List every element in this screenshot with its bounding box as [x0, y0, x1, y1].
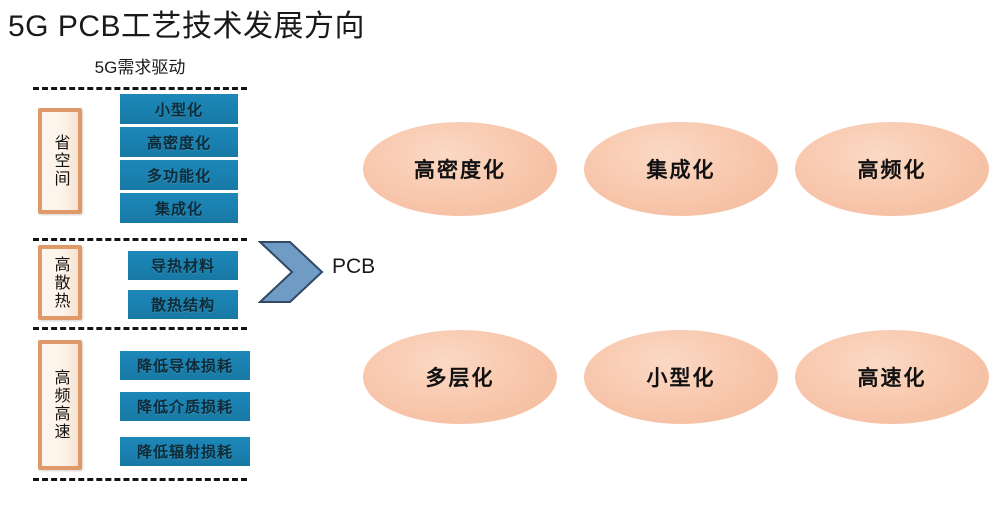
group-label-text: 省空间 — [51, 134, 70, 188]
group-label-heat-dissipation[interactable]: 高散热 — [38, 245, 82, 320]
chevron-right-icon — [258, 240, 324, 304]
requirement-label: 小型化 — [155, 99, 203, 120]
outcome-ellipse-integration[interactable]: 集成化 — [584, 122, 778, 216]
outcome-label: 高密度化 — [414, 154, 506, 184]
requirement-box-integration[interactable]: 集成化 — [120, 193, 238, 223]
outcome-ellipse-high-frequency[interactable]: 高频化 — [795, 122, 989, 216]
requirement-label: 多功能化 — [147, 165, 211, 186]
group-label-text: 高散热 — [51, 256, 70, 310]
outcome-label: 小型化 — [647, 362, 716, 392]
outcome-ellipse-multilayer[interactable]: 多层化 — [363, 330, 557, 424]
outcome-ellipse-high-speed[interactable]: 高速化 — [795, 330, 989, 424]
requirement-label: 高密度化 — [147, 132, 211, 153]
requirement-label: 集成化 — [155, 198, 203, 219]
requirement-box-high-density[interactable]: 高密度化 — [120, 127, 238, 157]
requirement-label: 降低辐射损耗 — [137, 441, 233, 462]
requirement-box-reduce-dielectric-loss[interactable]: 降低介质损耗 — [120, 392, 250, 421]
requirements-panel: 省空间 小型化 高密度化 多功能化 集成化 高散热 导热材料 散热结构 高频高速… — [0, 0, 300, 506]
pcb-label: PCB — [332, 255, 375, 279]
requirement-label: 降低介质损耗 — [137, 396, 233, 417]
requirement-box-multifunction[interactable]: 多功能化 — [120, 160, 238, 190]
outcome-label: 集成化 — [647, 154, 716, 184]
requirement-label: 降低导体损耗 — [137, 355, 233, 376]
dashed-separator-2 — [33, 327, 247, 330]
outcome-label: 高速化 — [858, 362, 927, 392]
requirement-box-miniaturization[interactable]: 小型化 — [120, 94, 238, 124]
requirement-label: 散热结构 — [151, 294, 215, 315]
group-label-text: 高频高速 — [51, 369, 70, 441]
outcome-label: 高频化 — [858, 154, 927, 184]
requirement-box-thermal-material[interactable]: 导热材料 — [128, 251, 238, 280]
dashed-separator-top — [33, 87, 247, 90]
requirement-box-reduce-conductor-loss[interactable]: 降低导体损耗 — [120, 351, 250, 380]
dashed-separator-bottom — [33, 478, 247, 481]
outcome-ellipse-high-density[interactable]: 高密度化 — [363, 122, 557, 216]
diagram-canvas: 5G PCB工艺技术发展方向 5G需求驱动 省空间 小型化 高密度化 多功能化 … — [0, 0, 1004, 506]
requirement-label: 导热材料 — [151, 255, 215, 276]
outcome-label: 多层化 — [426, 362, 495, 392]
requirement-box-thermal-structure[interactable]: 散热结构 — [128, 290, 238, 319]
group-label-high-frequency-speed[interactable]: 高频高速 — [38, 340, 82, 470]
outcome-ellipse-miniaturization[interactable]: 小型化 — [584, 330, 778, 424]
group-label-save-space[interactable]: 省空间 — [38, 108, 82, 214]
dashed-separator-1 — [33, 238, 247, 241]
requirement-box-reduce-radiation-loss[interactable]: 降低辐射损耗 — [120, 437, 250, 466]
